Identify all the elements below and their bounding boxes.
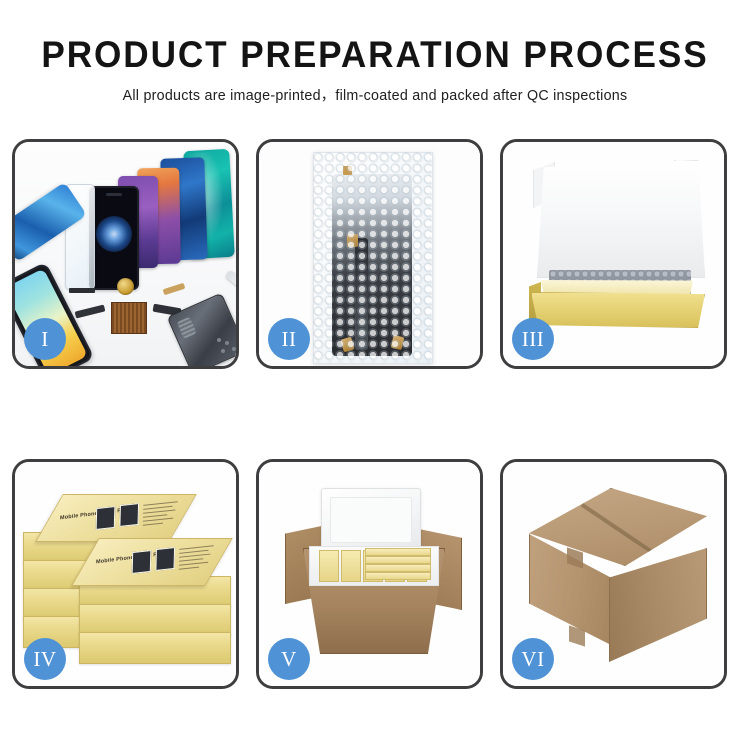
step-badge-1: I <box>24 318 66 360</box>
part-bar-icon <box>69 288 95 293</box>
step-badge-6: VI <box>512 638 554 680</box>
product-preparation-page: PRODUCT PREPARATION PROCESS All products… <box>0 0 750 750</box>
screws-group <box>217 338 236 354</box>
connector-icon <box>347 234 358 247</box>
process-steps-grid: I II <box>12 139 740 689</box>
step-panel-6: VI <box>500 459 727 689</box>
step-panel-2: II <box>256 139 483 369</box>
step-badge-4: IV <box>24 638 66 680</box>
step-badge-3: III <box>512 318 554 360</box>
step-badge-2: II <box>268 318 310 360</box>
part-logicboard-icon <box>111 302 147 334</box>
foam-lid-icon <box>321 488 421 552</box>
screwdriver-icon <box>225 269 236 303</box>
retail-box-lid-back: Mobile Phone Spare Parts <box>35 494 197 542</box>
spare-parts-group <box>67 276 236 366</box>
page-title: PRODUCT PREPARATION PROCESS <box>19 36 732 75</box>
retail-boxes-stack <box>365 548 429 582</box>
step-panel-3: III <box>500 139 727 369</box>
box-tray-front <box>531 292 705 328</box>
step-panel-1: I <box>12 139 239 369</box>
phone-hero-icon <box>89 186 139 290</box>
page-subtitle: All products are image-printed，film-coat… <box>0 84 750 105</box>
page-header: PRODUCT PREPARATION PROCESS All products… <box>0 36 750 105</box>
step-panel-5: V <box>256 459 483 689</box>
flex-cable-icon <box>355 238 368 350</box>
box-lid-icon <box>537 160 705 278</box>
part-backplate-icon <box>167 293 236 366</box>
step-panel-4: Mobile Phone Spare Parts Mobile Phone Sp… <box>12 459 239 689</box>
tape-icon <box>343 166 352 175</box>
lcd-screen-icon <box>332 174 412 356</box>
step-badge-5: V <box>268 638 310 680</box>
retail-box-lid-front: Mobile Phone Spare Parts <box>71 538 233 586</box>
part-gold-connector-icon <box>163 283 186 296</box>
part-flex-cable-icon <box>75 304 106 318</box>
part-speaker-icon <box>117 278 134 295</box>
